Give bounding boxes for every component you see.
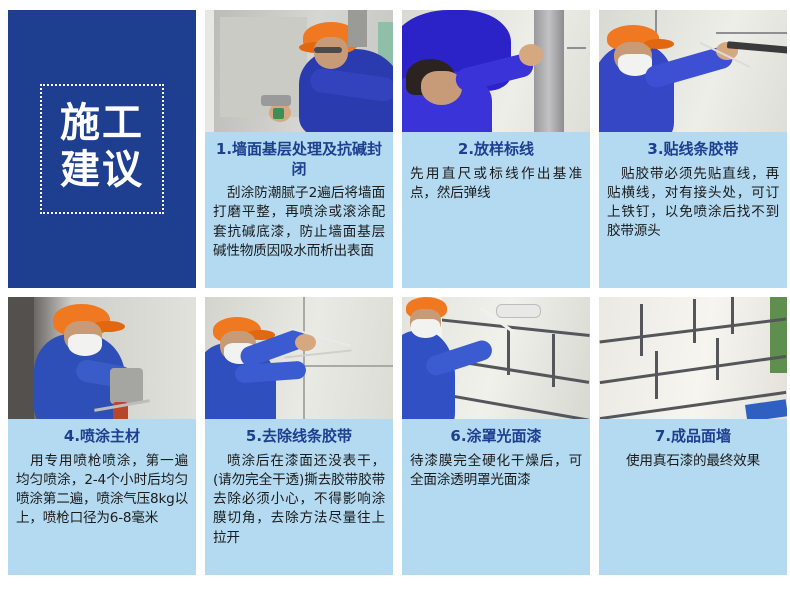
step-card-2: 2.放样标线 先用直尺或标线作出基准点，然后弹线 bbox=[402, 10, 590, 288]
step-card-5: 5.去除线条胶带 喷涂后在漆面还没表干，(请勿完全干透)撕去胶带胶带去除必须小心… bbox=[205, 297, 393, 575]
step-7-photo bbox=[599, 297, 787, 419]
step-6-photo bbox=[402, 297, 590, 419]
step-3-title: 3.贴线条胶带 bbox=[607, 140, 779, 160]
step-2-text: 先用直尺或标线作出基准点，然后弹线 bbox=[410, 165, 582, 204]
step-5-text: 喷涂后在漆面还没表干，(请勿完全干透)撕去胶带胶带去除必须小心，不得影响涂膜切角… bbox=[213, 452, 385, 548]
construction-steps-infographic: 施工 建议 bbox=[0, 0, 790, 595]
step-card-1: 1.墙面基层处理及抗碱封闭 刮涂防潮腻子2遍后将墙面打磨平整，再喷涂或滚涂配套抗… bbox=[205, 10, 393, 288]
hero-panel: 施工 建议 bbox=[8, 10, 196, 288]
step-4-title: 4.喷涂主材 bbox=[16, 427, 188, 447]
step-4-photo bbox=[8, 297, 196, 419]
step-7-text: 使用真石漆的最终效果 bbox=[607, 452, 779, 471]
step-4-text: 用专用喷枪喷涂，第一遍均匀喷涂，2-4个小时后均匀喷涂第二遍，喷涂气压8kg以上… bbox=[16, 452, 188, 529]
hero-title-line-1: 施工 bbox=[60, 100, 144, 147]
step-card-3: 3.贴线条胶带 贴胶带必须先贴直线，再贴横线，对有接头处，可订上铁钉，以免喷涂后… bbox=[599, 10, 787, 288]
step-6-text: 待漆膜完全硬化干燥后，可全面涂透明罩光面漆 bbox=[410, 452, 582, 491]
step-6-title: 6.涂罩光面漆 bbox=[410, 427, 582, 447]
step-2-photo bbox=[402, 10, 590, 132]
step-5-title: 5.去除线条胶带 bbox=[213, 427, 385, 447]
step-card-7: 7.成品面墙 使用真石漆的最终效果 bbox=[599, 297, 787, 575]
hero-dotted-frame: 施工 建议 bbox=[40, 84, 164, 214]
step-3-body: 3.贴线条胶带 贴胶带必须先贴直线，再贴横线，对有接头处，可订上铁钉，以免喷涂后… bbox=[599, 132, 787, 252]
step-2-body: 2.放样标线 先用直尺或标线作出基准点，然后弹线 bbox=[402, 132, 590, 213]
step-7-title: 7.成品面墙 bbox=[607, 427, 779, 447]
step-2-title: 2.放样标线 bbox=[410, 140, 582, 160]
step-1-body: 1.墙面基层处理及抗碱封闭 刮涂防潮腻子2遍后将墙面打磨平整，再喷涂或滚涂配套抗… bbox=[205, 132, 393, 271]
steps-grid: 施工 建议 bbox=[0, 10, 790, 575]
step-6-body: 6.涂罩光面漆 待漆膜完全硬化干燥后，可全面涂透明罩光面漆 bbox=[402, 419, 590, 500]
step-1-text: 刮涂防潮腻子2遍后将墙面打磨平整，再喷涂或滚涂配套抗碱底漆，防止墙面基层碱性物质… bbox=[213, 184, 385, 261]
step-1-title: 1.墙面基层处理及抗碱封闭 bbox=[213, 140, 385, 179]
step-7-body: 7.成品面墙 使用真石漆的最终效果 bbox=[599, 419, 787, 481]
step-5-photo bbox=[205, 297, 393, 419]
step-card-6: 6.涂罩光面漆 待漆膜完全硬化干燥后，可全面涂透明罩光面漆 bbox=[402, 297, 590, 575]
step-5-body: 5.去除线条胶带 喷涂后在漆面还没表干，(请勿完全干透)撕去胶带胶带去除必须小心… bbox=[205, 419, 393, 558]
hero-title-line-2: 建议 bbox=[60, 147, 144, 194]
step-card-4: 4.喷涂主材 用专用喷枪喷涂，第一遍均匀喷涂，2-4个小时后均匀喷涂第二遍，喷涂… bbox=[8, 297, 196, 575]
step-3-text: 贴胶带必须先贴直线，再贴横线，对有接头处，可订上铁钉，以免喷涂后找不到胶带源头 bbox=[607, 165, 779, 242]
step-3-photo bbox=[599, 10, 787, 132]
step-4-body: 4.喷涂主材 用专用喷枪喷涂，第一遍均匀喷涂，2-4个小时后均匀喷涂第二遍，喷涂… bbox=[8, 419, 196, 539]
step-1-photo bbox=[205, 10, 393, 132]
